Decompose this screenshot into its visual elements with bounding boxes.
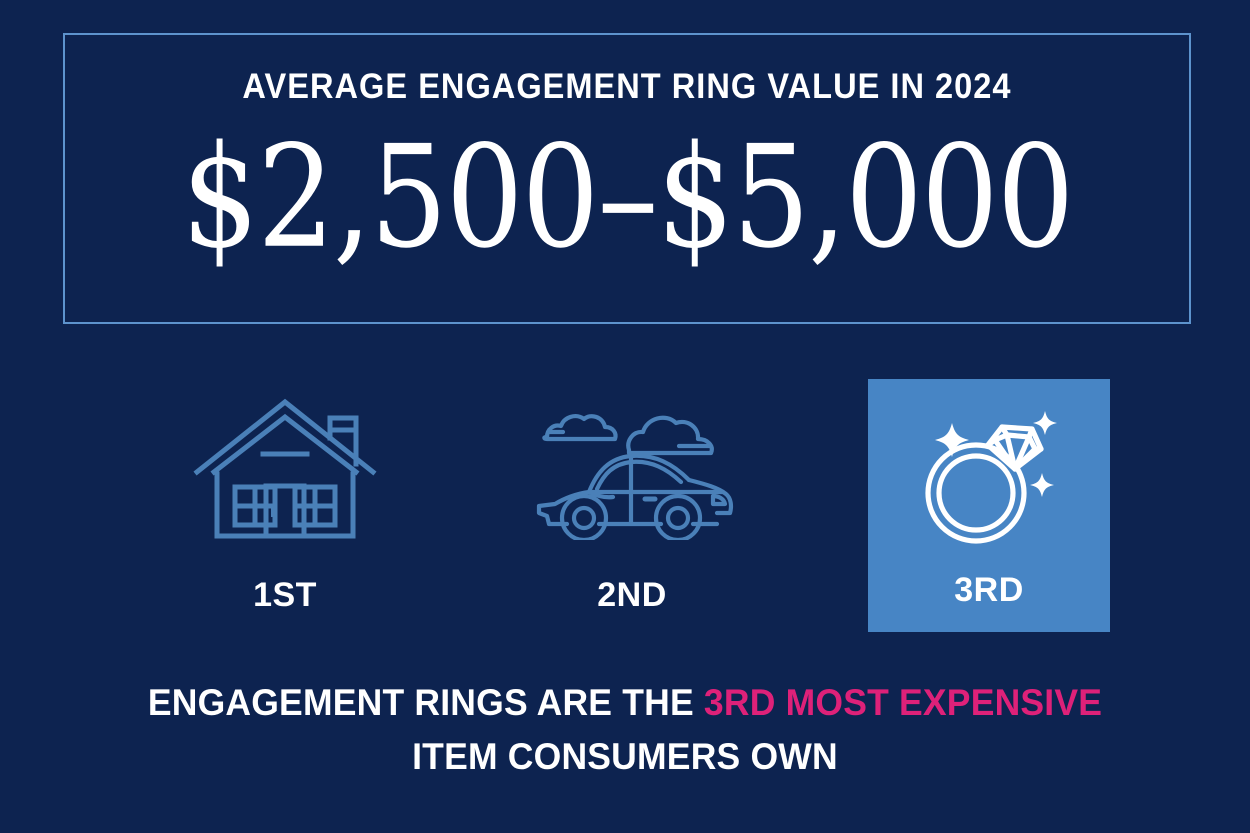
rank-comparison-row: 1ST bbox=[0, 375, 1250, 637]
page-title: AVERAGE ENGAGEMENT RING VALUE IN 2024 bbox=[104, 67, 1149, 107]
engagement-ring-icon-wrapper bbox=[868, 383, 1110, 569]
rank-item-house: 1ST bbox=[164, 375, 406, 633]
rank-item-car: 2ND bbox=[511, 375, 753, 633]
engagement-ring-icon bbox=[914, 401, 1064, 551]
rank-item-engagement-ring: 3RD bbox=[868, 379, 1110, 632]
infographic-canvas: AVERAGE ENGAGEMENT RING VALUE IN 2024 $2… bbox=[0, 0, 1250, 833]
car-icon-wrapper bbox=[511, 375, 753, 565]
footer-line-2: ITEM CONSUMERS OWN bbox=[25, 730, 1225, 784]
rank-label-3rd: 3RD bbox=[868, 571, 1110, 610]
average-value-amount: $2,500–$5,000 bbox=[82, 127, 1172, 268]
footer-line-1-plain: ENGAGEMENT RINGS ARE THE bbox=[148, 682, 704, 723]
house-icon bbox=[192, 394, 378, 546]
house-icon-wrapper bbox=[164, 375, 406, 565]
rank-label-2nd: 2ND bbox=[511, 576, 753, 615]
rank-label-1st: 1ST bbox=[164, 576, 406, 615]
average-value-frame: AVERAGE ENGAGEMENT RING VALUE IN 2024 $2… bbox=[63, 33, 1191, 324]
car-icon bbox=[527, 400, 737, 540]
footer-line-1-highlight: 3RD MOST EXPENSIVE bbox=[704, 682, 1102, 723]
footer-line-1: ENGAGEMENT RINGS ARE THE 3RD MOST EXPENS… bbox=[25, 676, 1225, 730]
footer-statement: ENGAGEMENT RINGS ARE THE 3RD MOST EXPENS… bbox=[25, 676, 1225, 784]
